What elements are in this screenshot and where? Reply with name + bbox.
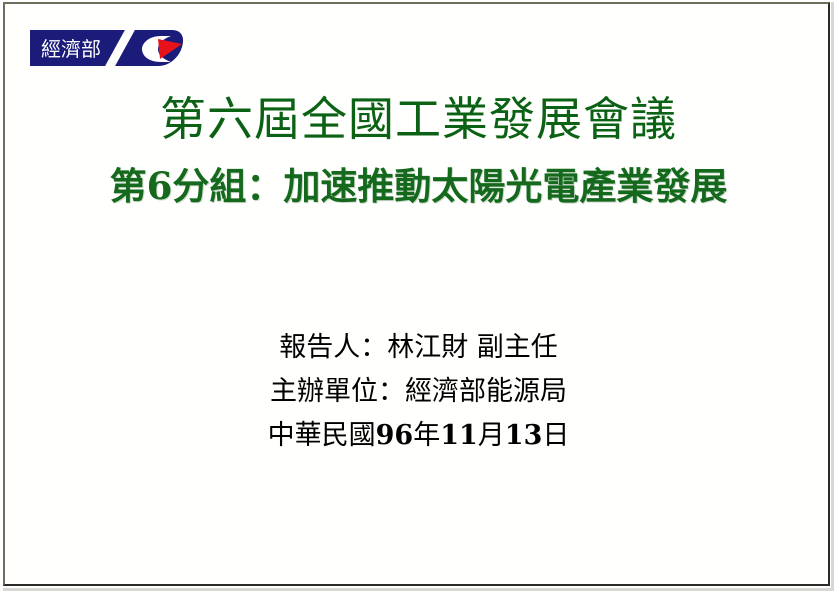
date-year: 96 [376, 420, 414, 451]
date-era: 中華民國 [268, 420, 376, 451]
sub-title: 第6分組：加速推動太陽光電產業發展 [5, 160, 832, 212]
date-day-unit: 日 [542, 420, 569, 451]
moea-logo: 經濟部 [30, 26, 185, 70]
date-month: 11 [440, 420, 478, 451]
date-day: 13 [505, 420, 543, 451]
presenter-line: 報告人：林江財 副主任 [5, 326, 832, 370]
date-month-unit: 月 [478, 420, 505, 451]
logo-text: 經濟部 [41, 37, 101, 61]
title-block: 第六屆全國工業發展會議 第6分組：加速推動太陽光電產業發展 [5, 90, 832, 212]
presentation-slide: 經濟部 第六屆全國工業發展會議 第6分組：加速推動太陽光電產業發展 報告人：林江… [3, 2, 830, 586]
date-year-unit: 年 [413, 420, 440, 451]
organizer-line: 主辦單位：經濟部能源局 [5, 370, 832, 414]
main-title: 第六屆全國工業發展會議 [5, 90, 832, 148]
date-line: 中華民國96年11月13日 [5, 414, 832, 458]
body-block: 報告人：林江財 副主任 主辦單位：經濟部能源局 中華民國96年11月13日 [5, 326, 832, 458]
